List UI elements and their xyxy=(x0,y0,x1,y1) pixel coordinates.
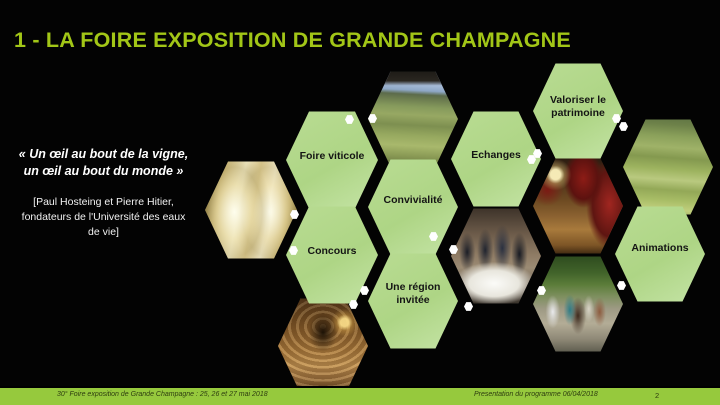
page-number: 2 xyxy=(655,391,659,400)
wine-cellar-tunnel-photo xyxy=(278,297,368,395)
hex-une-region-invitee[interactable] xyxy=(368,252,458,350)
connector-node xyxy=(619,122,628,131)
hex-animations[interactable] xyxy=(615,205,705,303)
footer-left-text: 30° Foire exposition de Grande Champagne… xyxy=(57,391,268,398)
hex-valoriser-le-patrimoine[interactable] xyxy=(533,62,623,160)
distillery-copper-stills-photo xyxy=(533,157,623,255)
footer-bar: 30° Foire exposition de Grande Champagne… xyxy=(0,388,720,405)
footer-right-text: Presentation du programme 06/04/2018 xyxy=(474,391,598,398)
connector-node xyxy=(617,281,626,290)
presentation-slide: 1 - LA FOIRE EXPOSITION DE GRANDE CHAMPA… xyxy=(0,0,720,405)
vineyard-hills-photo xyxy=(623,118,713,216)
vineyard-rows-photo xyxy=(368,70,458,168)
champagne-glasses-photo xyxy=(205,160,297,260)
honeycomb-diagram: Foire viticole Concours Convivialité Une… xyxy=(0,0,720,405)
connector-node xyxy=(464,302,473,311)
banquet-reception-photo xyxy=(451,207,541,305)
hex-convivialite[interactable] xyxy=(368,158,458,256)
hex-foire-viticole[interactable] xyxy=(286,110,378,210)
outdoor-visitors-horses-photo xyxy=(533,255,623,353)
